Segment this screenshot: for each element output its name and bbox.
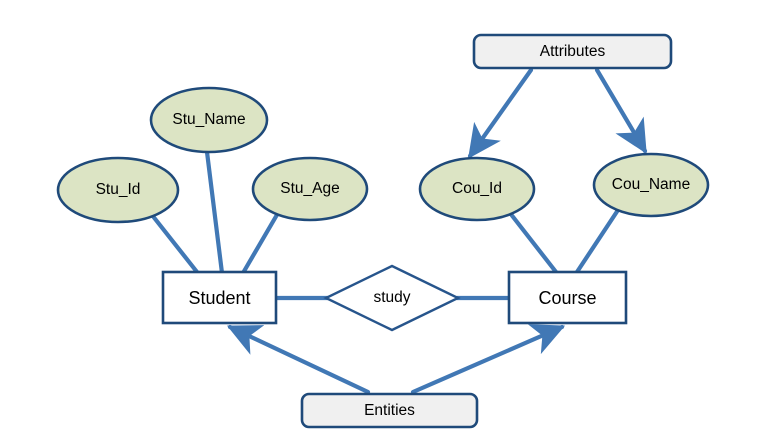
relationship-shapes bbox=[326, 266, 458, 330]
attribute-ellipse-stu-id[interactable] bbox=[58, 158, 178, 222]
attribute-ellipse-cou-id[interactable] bbox=[420, 158, 534, 220]
attribute-ellipse-cou-name[interactable] bbox=[594, 154, 708, 216]
connector-entities-student bbox=[230, 327, 368, 392]
connector-cou-id-course bbox=[510, 213, 556, 272]
attribute-ellipse-stu-age[interactable] bbox=[253, 158, 367, 220]
connector-stu-id-student bbox=[152, 215, 197, 272]
connector-attributes-cou-id bbox=[470, 70, 531, 156]
connector-stu-age-student bbox=[243, 213, 278, 273]
attribute-shapes bbox=[58, 88, 708, 222]
connector-cou-name-course bbox=[577, 210, 618, 272]
entity-rect-student[interactable] bbox=[163, 272, 276, 323]
legend-shapes bbox=[302, 35, 671, 427]
er-diagram-svg bbox=[0, 0, 780, 434]
relationship-diamond-study[interactable] bbox=[326, 266, 458, 330]
legend-rect-entities[interactable] bbox=[302, 394, 477, 427]
connector-stu-name-student bbox=[207, 152, 222, 273]
connector-entities-course bbox=[413, 327, 562, 392]
legend-rect-attributes[interactable] bbox=[474, 35, 671, 68]
entity-rect-course[interactable] bbox=[509, 272, 626, 323]
er-diagram-canvas: Stu_Id Stu_Name Stu_Age Cou_Id Cou_Name … bbox=[0, 0, 780, 434]
attribute-ellipse-stu-name[interactable] bbox=[151, 88, 267, 152]
connector-attributes-cou-name bbox=[597, 70, 645, 151]
